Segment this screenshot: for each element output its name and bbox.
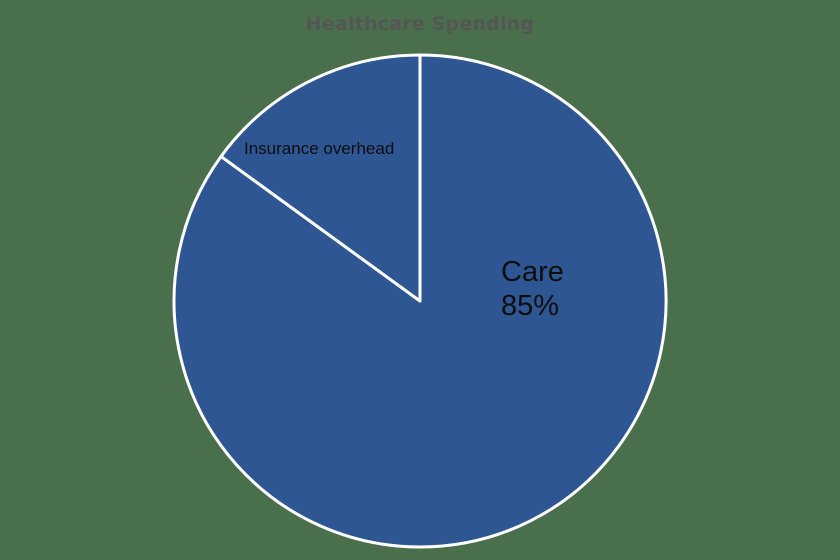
chart-canvas: Healthcare Spending Insurance overhead C… xyxy=(0,0,840,560)
pie-label-care-value: 85% xyxy=(501,289,564,323)
pie-chart xyxy=(0,0,840,560)
pie-label-insurance-overhead: Insurance overhead xyxy=(244,139,394,159)
pie-label-care: Care 85% xyxy=(501,255,564,323)
pie-label-care-name: Care xyxy=(501,255,564,289)
